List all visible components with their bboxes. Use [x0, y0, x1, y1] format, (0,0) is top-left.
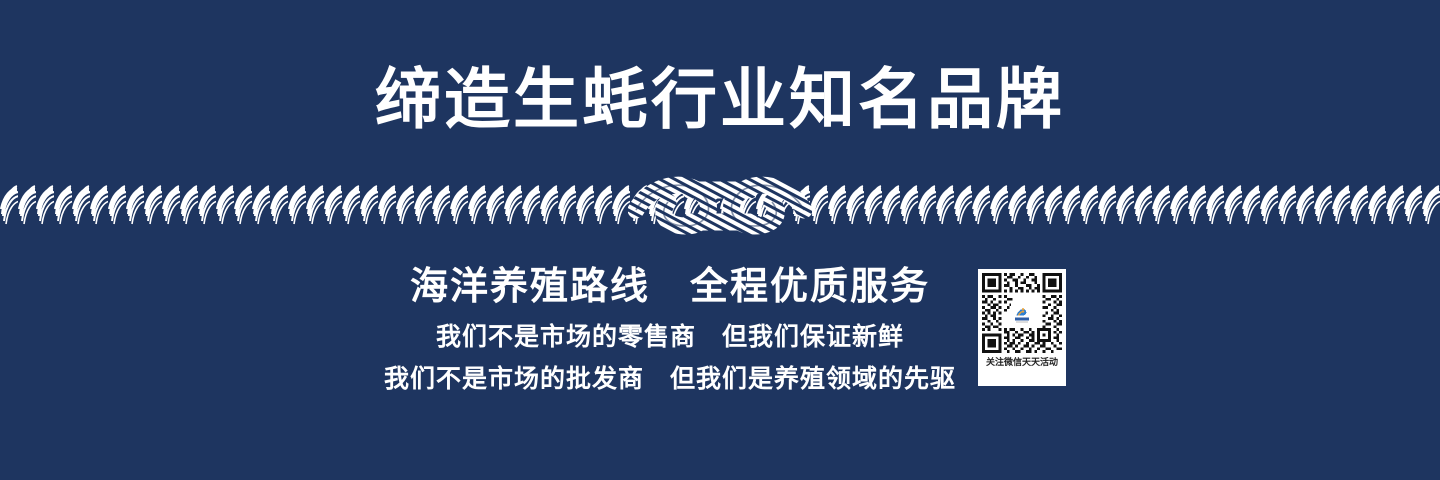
qr-code-icon[interactable] [982, 273, 1062, 353]
tagline-line-1: 我们不是市场的零售商 但我们保证新鲜 [0, 320, 1440, 354]
subtitle: 海洋养殖路线 全程优质服务 [0, 262, 1440, 310]
promo-banner: 缔造生蚝行业知名品牌 [0, 0, 1440, 480]
qr-panel[interactable]: 关注微信天天活动 [978, 269, 1066, 386]
tagline-line-2: 我们不是市场的批发商 但我们是养殖领域的先驱 [0, 362, 1440, 396]
rope-knot-icon [628, 164, 812, 248]
page-title: 缔造生蚝行业知名品牌 [0, 64, 1440, 136]
qr-center-logo-icon [1011, 302, 1033, 324]
rope-divider [0, 178, 1440, 234]
qr-caption: 关注微信天天活动 [986, 357, 1058, 369]
